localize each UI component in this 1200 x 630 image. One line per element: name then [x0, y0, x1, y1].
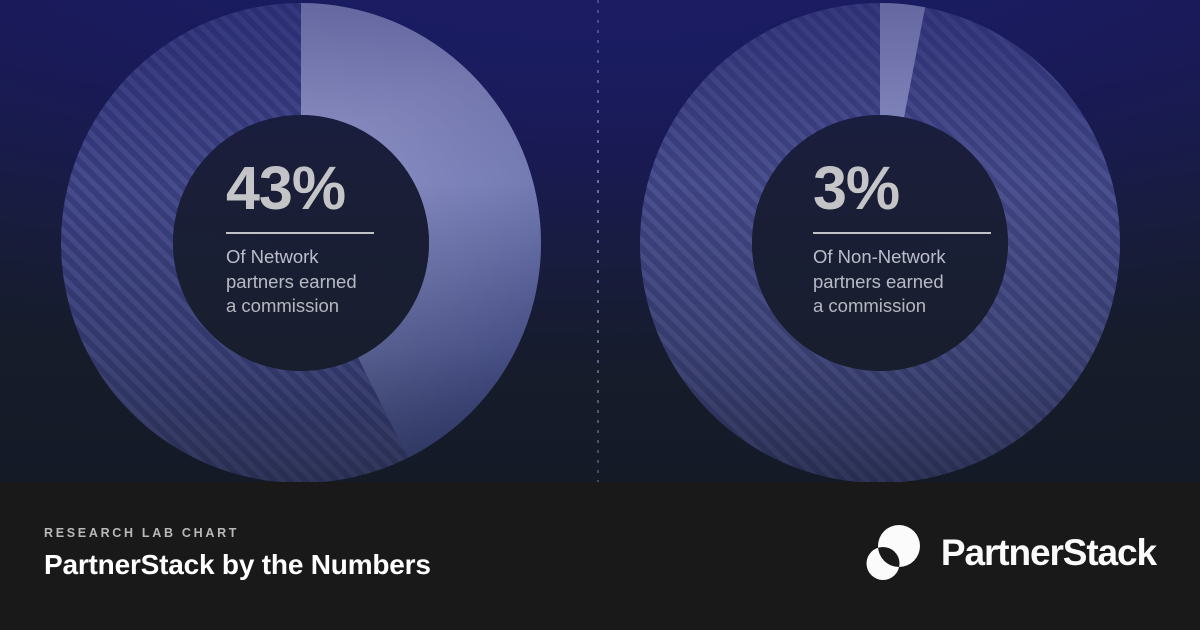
two-circles-logo-icon — [862, 522, 924, 584]
donut-chart-network — [0, 0, 600, 482]
chart-area: 43% Of Network partners earned a commiss… — [0, 0, 1200, 482]
donut-hole-non-network — [752, 115, 1008, 371]
donut-chart-non-network — [600, 0, 1200, 482]
donut-hole-network — [173, 115, 429, 371]
infographic-card: 43% Of Network partners earned a commiss… — [0, 0, 1200, 630]
footer-text-group: RESEARCH LAB CHART PartnerStack by the N… — [44, 526, 431, 581]
brand-lockup[interactable]: PartnerStack — [862, 522, 1156, 584]
footer-eyebrow: RESEARCH LAB CHART — [44, 526, 431, 540]
brand-name: PartnerStack — [941, 532, 1156, 574]
vertical-dotted-divider — [597, 0, 599, 482]
footer-bar: RESEARCH LAB CHART PartnerStack by the N… — [0, 482, 1200, 630]
footer-title: PartnerStack by the Numbers — [44, 549, 431, 581]
